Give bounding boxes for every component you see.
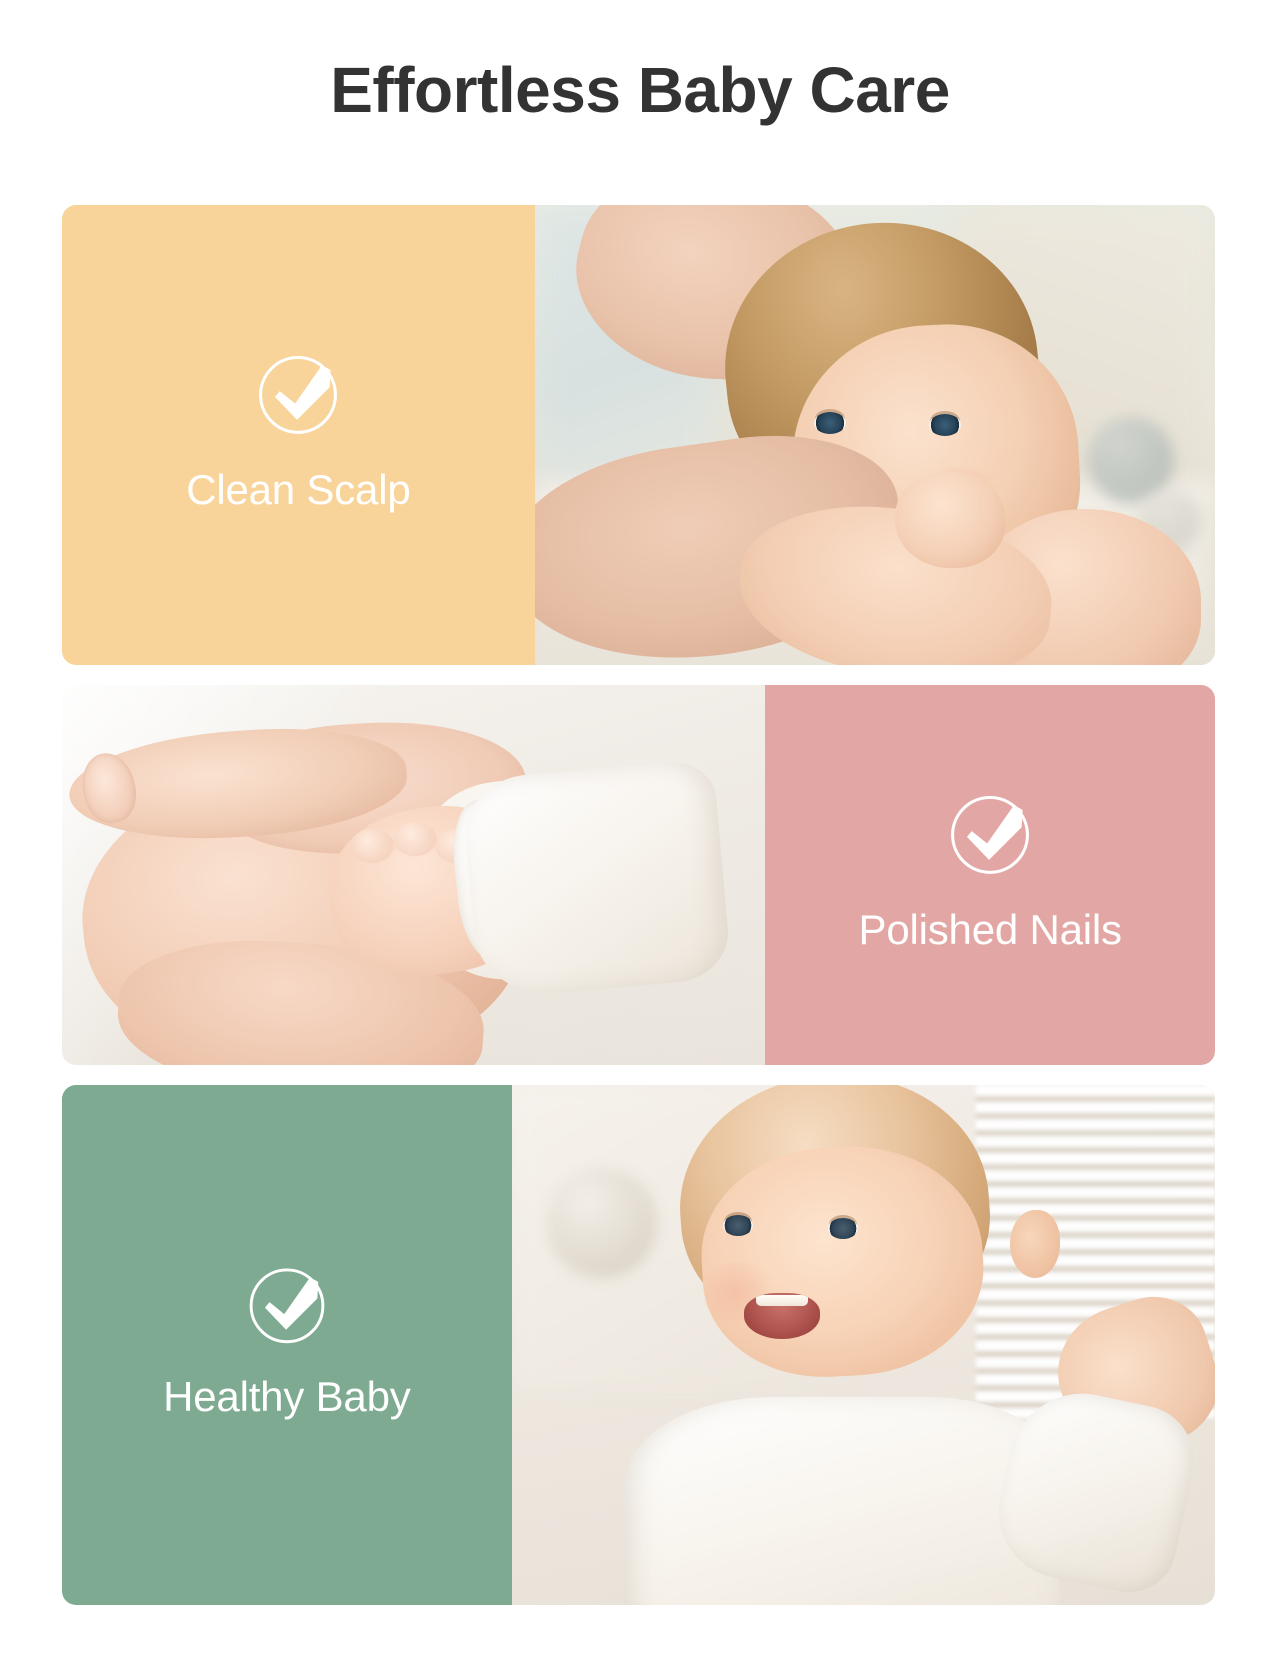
feature-panel-polished-nails: Polished Nails — [765, 685, 1215, 1065]
page-title: Effortless Baby Care — [0, 58, 1280, 122]
check-circle-icon — [250, 345, 346, 441]
feature-panel-clean-scalp: Clean Scalp — [62, 205, 535, 665]
feature-card-polished-nails: Polished Nails — [62, 685, 1215, 1065]
feature-label-polished-nails: Polished Nails — [859, 907, 1122, 953]
feature-card-healthy-baby: Healthy Baby — [62, 1085, 1215, 1605]
check-circle-icon — [241, 1258, 333, 1350]
feature-photo-clean-scalp — [535, 205, 1215, 665]
feature-card-clean-scalp: Clean Scalp — [62, 205, 1215, 665]
feature-photo-healthy-baby — [512, 1085, 1215, 1605]
feature-label-healthy-baby: Healthy Baby — [163, 1374, 410, 1420]
check-circle-icon — [942, 785, 1038, 881]
feature-panel-healthy-baby: Healthy Baby — [62, 1085, 512, 1605]
feature-photo-polished-nails — [62, 685, 765, 1065]
feature-label-clean-scalp: Clean Scalp — [186, 467, 410, 513]
